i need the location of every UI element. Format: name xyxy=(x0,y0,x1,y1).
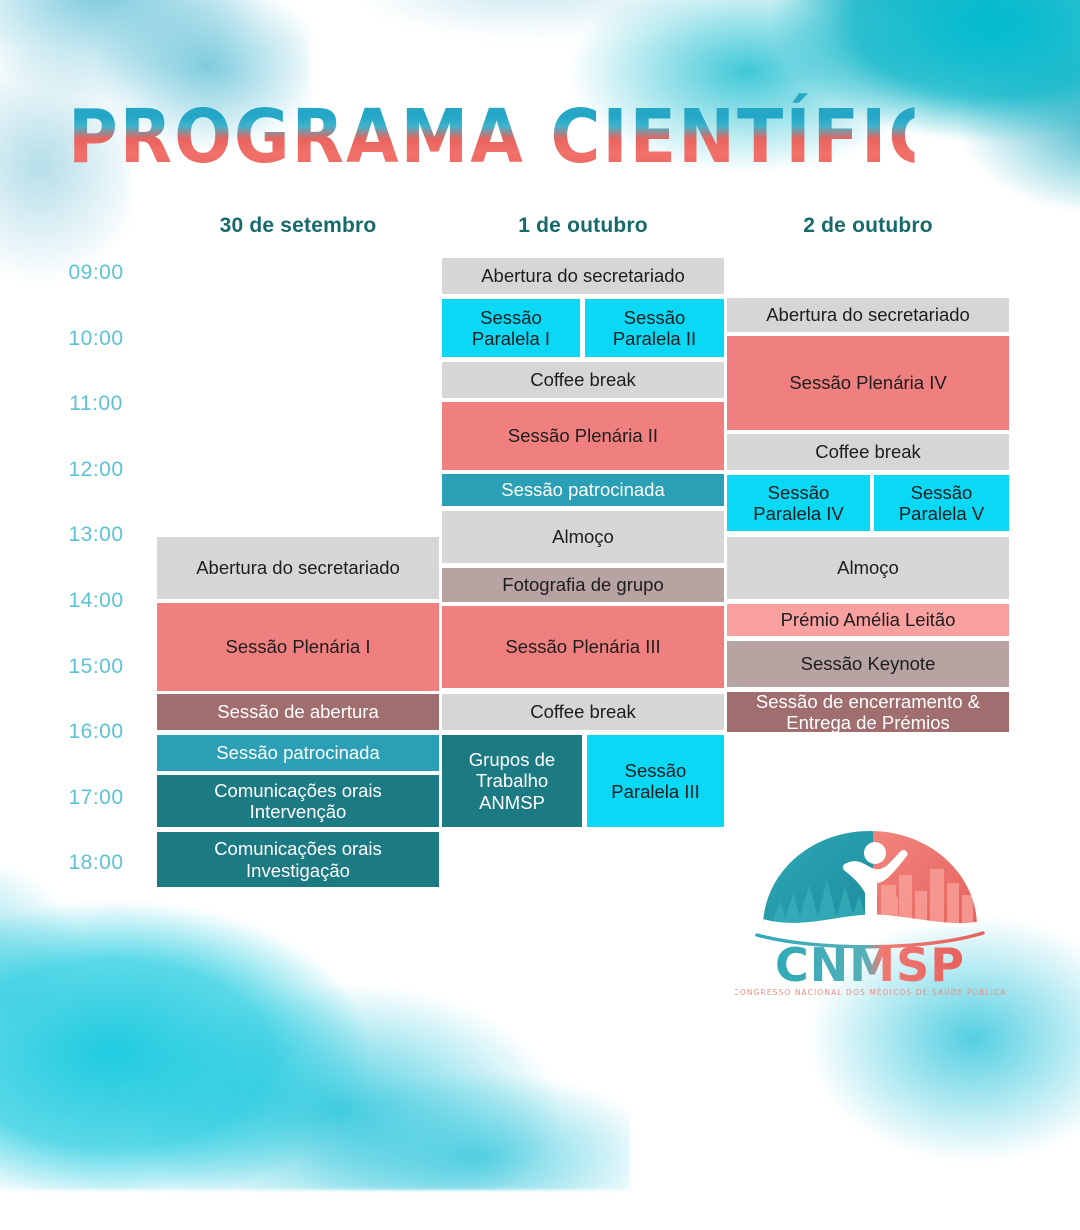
logo-tagline: CONGRESSO NACIONAL DOS MÉDICOS DE SAÚDE … xyxy=(735,988,1005,997)
time-label-1200: 12:00 xyxy=(46,458,146,482)
session-block[interactable]: Sessão Plenária IV xyxy=(727,336,1009,430)
session-block[interactable]: Abertura do secretariado xyxy=(727,298,1009,332)
session-block[interactable]: SessãoParalela III xyxy=(587,735,724,827)
session-block[interactable]: Almoço xyxy=(442,511,724,563)
time-label-1000: 10:00 xyxy=(46,327,146,351)
session-block-label: Abertura do secretariado xyxy=(481,265,685,286)
session-block[interactable]: Comunicações oraisInvestigação xyxy=(157,832,439,887)
day-header-1-outubro: 1 de outubro xyxy=(442,214,724,238)
session-block[interactable]: Fotografia de grupo xyxy=(442,568,724,602)
session-block[interactable]: Sessão de abertura xyxy=(157,694,439,730)
session-block[interactable]: Sessão Plenária II xyxy=(442,402,724,470)
session-block-label: Sessão Keynote xyxy=(801,653,936,674)
session-block-label: Comunicações oraisInvestigação xyxy=(214,838,382,880)
session-block-label: Fotografia de grupo xyxy=(502,574,663,595)
time-label-1300: 13:00 xyxy=(46,523,146,547)
session-block-label: Prémio Amélia Leitão xyxy=(781,609,956,630)
session-block[interactable]: Almoço xyxy=(727,537,1009,599)
session-block[interactable]: Sessão patrocinada xyxy=(442,474,724,506)
session-block-label: Comunicações oraisIntervenção xyxy=(214,780,382,822)
session-block-label: Coffee break xyxy=(530,701,636,722)
session-block-label: Sessão Plenária III xyxy=(505,636,660,657)
session-block[interactable]: SessãoParalela I xyxy=(442,299,580,357)
session-block-label: SessãoParalela II xyxy=(613,307,696,349)
session-block-label: Almoço xyxy=(837,557,899,578)
session-block[interactable]: Sessão patrocinada xyxy=(157,735,439,771)
time-label-1400: 14:00 xyxy=(46,589,146,613)
session-block[interactable]: Abertura do secretariado xyxy=(157,537,439,599)
time-label-1800: 18:00 xyxy=(46,851,146,875)
session-block-label: Sessão patrocinada xyxy=(216,742,380,763)
time-label-0900: 09:00 xyxy=(46,261,146,285)
session-block-label: Abertura do secretariado xyxy=(766,304,970,325)
day-header-30-setembro: 30 de setembro xyxy=(157,214,439,238)
session-block-label: Sessão de encerramento &Entrega de Prémi… xyxy=(756,692,980,732)
session-block[interactable]: SessãoParalela II xyxy=(585,299,724,357)
session-block[interactable]: Comunicações oraisIntervenção xyxy=(157,775,439,827)
session-block-label: Sessão Plenária I xyxy=(225,636,370,657)
session-block-label: Sessão patrocinada xyxy=(501,479,665,500)
session-block-label: Grupos deTrabalhoANMSP xyxy=(469,749,555,812)
session-block-label: SessãoParalela III xyxy=(611,760,699,802)
session-block[interactable]: Coffee break xyxy=(727,434,1009,470)
session-block[interactable]: Sessão de encerramento &Entrega de Prémi… xyxy=(727,692,1009,732)
cnmsp-logo: CNMSP CONGRESSO NACIONAL DOS MÉDICOS DE … xyxy=(735,823,1005,1003)
session-block-label: Abertura do secretariado xyxy=(196,557,400,578)
time-label-1700: 17:00 xyxy=(46,786,146,810)
session-block-label: SessãoParalela I xyxy=(472,307,550,349)
session-block[interactable]: Sessão Plenária I xyxy=(157,603,439,691)
time-label-1600: 16:00 xyxy=(46,720,146,744)
session-block-label: Coffee break xyxy=(815,441,921,462)
session-block[interactable]: Coffee break xyxy=(442,694,724,730)
session-block-label: Almoço xyxy=(552,526,614,547)
session-block[interactable]: Coffee break xyxy=(442,362,724,398)
session-block[interactable]: Abertura do secretariado xyxy=(442,258,724,294)
session-block-label: Coffee break xyxy=(530,369,636,390)
session-block[interactable]: SessãoParalela IV xyxy=(727,475,870,531)
session-block-label: SessãoParalela IV xyxy=(753,482,844,524)
session-block-label: Sessão Plenária IV xyxy=(789,372,946,393)
session-block-label: SessãoParalela V xyxy=(899,482,984,524)
session-block-label: Sessão de abertura xyxy=(217,701,378,722)
session-block-label: Sessão Plenária II xyxy=(508,425,658,446)
session-block[interactable]: Prémio Amélia Leitão xyxy=(727,604,1009,636)
time-label-1100: 11:00 xyxy=(46,392,146,416)
session-block[interactable]: Sessão Plenária III xyxy=(442,606,724,688)
time-label-1500: 15:00 xyxy=(46,655,146,679)
session-block[interactable]: Sessão Keynote xyxy=(727,641,1009,687)
session-block[interactable]: SessãoParalela V xyxy=(874,475,1009,531)
logo-acronym: CNMSP xyxy=(775,938,965,992)
logo-dome xyxy=(763,827,981,933)
session-block[interactable]: Grupos deTrabalhoANMSP xyxy=(442,735,582,827)
day-header-2-outubro: 2 de outubro xyxy=(727,214,1009,238)
